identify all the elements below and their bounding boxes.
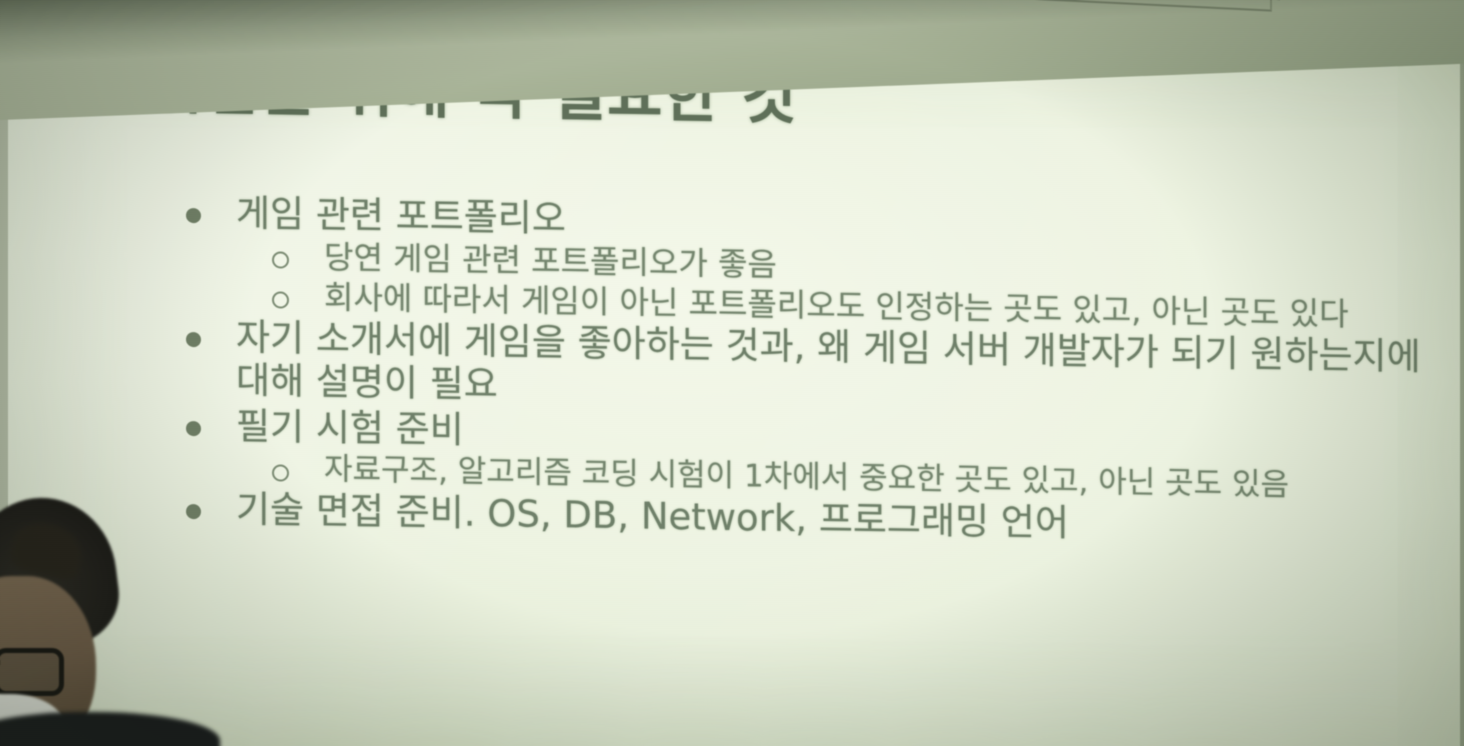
bullet-dot-icon	[186, 208, 201, 223]
presentation-photo-stage: 취업을 위해 꼭 필요한 것 게임 관련 포트폴리오 당연 게임 관련 포트폴리…	[0, 0, 1464, 746]
bullet-dot-icon	[186, 332, 201, 347]
bullet-circle-icon	[272, 291, 289, 308]
bullet-text: 당연 게임 관련 포트폴리오가 좋음	[324, 239, 777, 285]
bullet-text: 필기 시험 준비	[236, 404, 464, 451]
bullet-text: 게임 관련 포트폴리오	[236, 192, 566, 240]
bullet-circle-icon	[272, 464, 289, 481]
bullet-circle-icon	[272, 252, 289, 269]
slide-bullet-list: 게임 관련 포트폴리오 당연 게임 관련 포트폴리오가 좋음 회사에 따라서 게…	[158, 190, 1428, 552]
bullet-dot-icon	[186, 504, 201, 519]
slide-content: 취업을 위해 꼭 필요한 것 게임 관련 포트폴리오 당연 게임 관련 포트폴리…	[8, 6, 1460, 746]
bullet-dot-icon	[186, 421, 201, 436]
